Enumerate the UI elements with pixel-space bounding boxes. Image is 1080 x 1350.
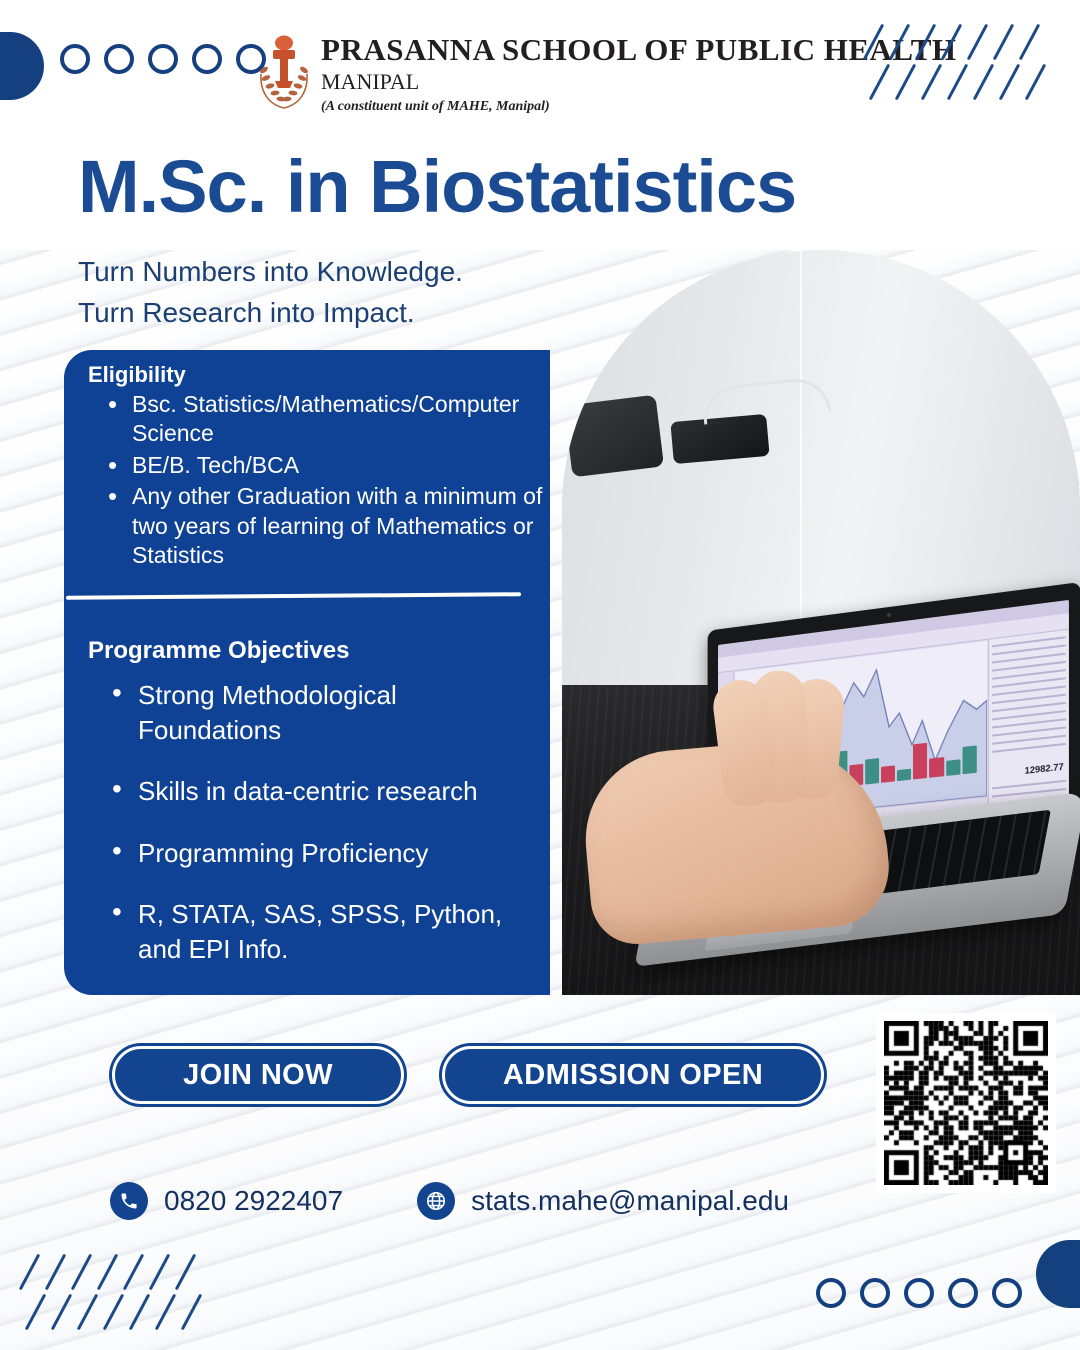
photo-laptop: 12982.77 — [646, 607, 1076, 957]
slash-decor-line — [71, 1254, 92, 1291]
photo-phone-object — [564, 395, 664, 478]
list-item: Programming Proficiency — [104, 836, 544, 871]
slash-decor-line — [921, 64, 942, 101]
slash-decor-line — [993, 24, 1014, 61]
laptop-photo: 12982.77 — [562, 250, 1080, 995]
phone-icon — [110, 1182, 148, 1220]
institution-logo-block: PRASANNA SCHOOL OF PUBLIC HEALTH MANIPAL… — [255, 30, 957, 115]
slash-decor-line — [155, 1294, 176, 1331]
ring-decor-icon — [992, 1278, 1022, 1308]
header-ring-decor-group — [60, 44, 266, 74]
slash-decor-line — [97, 1254, 118, 1291]
slash-decor-line — [25, 1294, 46, 1331]
slash-decor-line — [129, 1294, 150, 1331]
list-item: Strong Methodological Foundations — [104, 678, 544, 747]
slash-decor-line — [967, 24, 988, 61]
phone-number: 0820 2922407 — [164, 1185, 343, 1217]
contact-email[interactable]: stats.mahe@manipal.edu — [417, 1182, 789, 1220]
brand-subtitle: (A constituent unit of MAHE, Manipal) — [321, 99, 957, 115]
brand-name: PRASANNA SCHOOL OF PUBLIC HEALTH — [321, 34, 957, 65]
slash-decor-bottom-left — [28, 1252, 228, 1338]
objectives-heading: Programme Objectives — [88, 637, 349, 665]
slash-decor-line — [1025, 64, 1046, 101]
slash-decor-line — [77, 1294, 98, 1331]
slash-decor-line — [175, 1254, 196, 1291]
brand-city: MANIPAL — [321, 68, 957, 96]
ring-decor-icon — [948, 1278, 978, 1308]
page-title: M.Sc. in Biostatistics — [78, 148, 796, 226]
slash-decor-line — [181, 1294, 202, 1331]
objectives-list: Strong Methodological Foundations Skills… — [104, 678, 544, 993]
header: PRASANNA SCHOOL OF PUBLIC HEALTH MANIPAL… — [0, 0, 1080, 130]
join-now-button[interactable]: JOIN NOW — [112, 1046, 404, 1104]
list-item: R, STATA, SAS, SPSS, Python, and EPI Inf… — [104, 897, 544, 966]
slash-decor-line — [999, 64, 1020, 101]
screen-right-panel: 12982.77 — [988, 630, 1069, 819]
footer-ring-decor-group — [816, 1278, 1022, 1308]
ring-decor-icon — [904, 1278, 934, 1308]
header-halfcircle-decor — [0, 32, 44, 100]
slash-decor-line — [895, 64, 916, 101]
email-address: stats.mahe@manipal.edu — [471, 1185, 789, 1217]
ring-decor-icon — [860, 1278, 890, 1308]
slash-decor-line — [889, 24, 910, 61]
list-item: Any other Graduation with a minimum of t… — [100, 482, 560, 570]
slash-decor-line — [947, 64, 968, 101]
slash-decor-top-right — [872, 22, 1072, 108]
slash-decor-line — [941, 24, 962, 61]
ring-decor-icon — [60, 44, 90, 74]
slash-decor-line — [149, 1254, 170, 1291]
slash-decor-line — [973, 64, 994, 101]
tagline-line-2: Turn Research into Impact. — [78, 293, 463, 334]
contact-phone[interactable]: 0820 2922407 — [110, 1182, 343, 1220]
eligibility-heading: Eligibility — [88, 362, 186, 388]
list-item: Bsc. Statistics/Mathematics/Computer Sci… — [100, 390, 560, 449]
slash-decor-line — [51, 1294, 72, 1331]
slash-decor-line — [123, 1254, 144, 1291]
screen-price-value: 12982.77 — [1025, 762, 1064, 776]
tagline: Turn Numbers into Knowledge. Turn Resear… — [78, 252, 463, 333]
torch-wreath-logo-icon — [255, 30, 313, 112]
tagline-line-1: Turn Numbers into Knowledge. — [78, 252, 463, 293]
eligibility-list: Bsc. Statistics/Mathematics/Computer Sci… — [100, 390, 560, 573]
globe-icon — [417, 1182, 455, 1220]
slash-decor-line — [915, 24, 936, 61]
slash-decor-line — [45, 1254, 66, 1291]
list-item: BE/B. Tech/BCA — [100, 451, 560, 480]
ring-decor-icon — [104, 44, 134, 74]
ring-decor-icon — [148, 44, 178, 74]
qr-code[interactable] — [876, 1013, 1056, 1193]
admission-open-button[interactable]: ADMISSION OPEN — [442, 1046, 824, 1104]
list-item: Skills in data-centric research — [104, 774, 544, 809]
slash-decor-line — [869, 64, 890, 101]
ring-decor-icon — [816, 1278, 846, 1308]
ring-decor-icon — [192, 44, 222, 74]
slash-decor-line — [1019, 24, 1040, 61]
webcam-icon — [887, 613, 891, 618]
qr-code-image — [884, 1021, 1048, 1185]
slash-decor-line — [103, 1294, 124, 1331]
contact-bar: 0820 2922407 stats.mahe@manipal.edu — [110, 1182, 789, 1220]
